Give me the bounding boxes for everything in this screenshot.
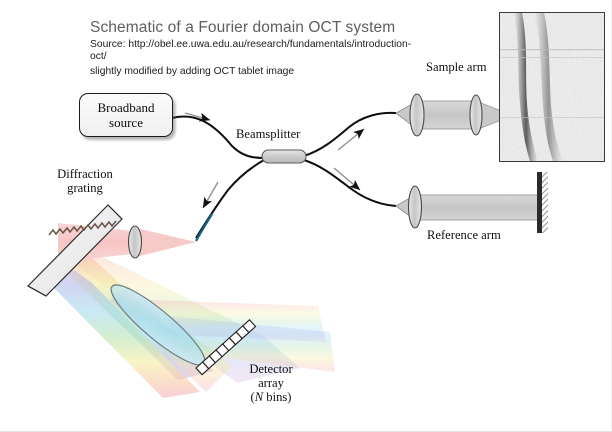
broadband-source-line-2: source	[109, 115, 143, 131]
oct-bscan-render	[500, 13, 604, 161]
sample-arm-collimated-beam	[417, 101, 476, 129]
beamsplitter-body	[262, 150, 306, 163]
arrow-to-spectrometer	[203, 182, 218, 208]
reference-mirror-face	[537, 172, 542, 233]
beamsplitter-label: Beamsplitter	[236, 127, 300, 141]
fiber-splitter-to-reference-arm	[304, 160, 396, 206]
reference-arm-beam	[414, 195, 540, 220]
broadband-source-box[interactable]: Broadband source	[79, 93, 173, 137]
reference-arm-label: Reference arm	[427, 228, 501, 242]
detector-array-bins: (N bins)	[233, 390, 309, 404]
broadband-source-line-1: Broadband	[97, 100, 154, 116]
sample-arm-lens-1	[410, 94, 424, 136]
figure-canvas: Schematic of a Fourier domain OCT system…	[0, 0, 612, 432]
sample-arm	[396, 94, 504, 136]
sample-arm-lens-2	[470, 95, 482, 135]
fiber-splitter-to-sample-arm	[304, 113, 396, 156]
fiber-splitter-to-spectrometer	[196, 160, 264, 238]
reference-arm-lens	[409, 186, 422, 228]
spectrometer-lens	[129, 226, 142, 258]
reference-mirror-hatching	[542, 172, 548, 233]
detector-array-label-line-2: array	[233, 376, 309, 390]
reference-arm	[396, 172, 548, 233]
bins-suffix: bins)	[263, 390, 291, 404]
bins-symbol: N	[255, 390, 263, 404]
detector-array-label-line-1: Detector	[233, 362, 309, 376]
pink-beam-cone	[136, 228, 196, 257]
diffraction-grating-label: Diffraction grating	[35, 167, 135, 195]
oct-tablet-image	[499, 12, 605, 162]
detector-array-label: Detector array (N bins)	[233, 362, 309, 404]
diffraction-grating-label-line-1: Diffraction	[35, 167, 135, 181]
diffraction-grating-label-line-2: grating	[35, 181, 135, 195]
sample-arm-label: Sample arm	[426, 60, 487, 74]
fiber-spectrometer-blue	[196, 214, 212, 241]
broadband-source-text: Broadband source	[80, 94, 172, 136]
